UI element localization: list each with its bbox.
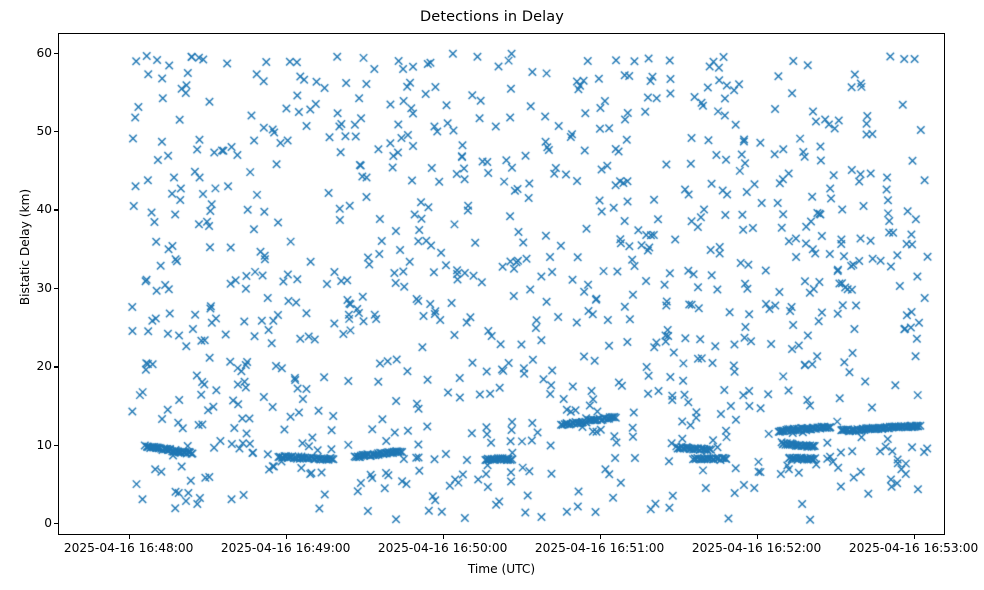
x-tick-mark [600, 535, 601, 539]
scatter-points-layer [59, 34, 945, 535]
y-axis-label: Bistatic Delay (km) [18, 137, 32, 357]
plot-area [58, 33, 945, 535]
y-tick-mark [54, 53, 58, 54]
y-tick-mark [54, 366, 58, 367]
x-tick-mark [757, 535, 758, 539]
x-tick-mark [129, 535, 130, 539]
y-tick-mark [54, 131, 58, 132]
y-tick-label: 60 [6, 46, 52, 60]
x-tick-label: 2025-04-16 16:53:00 [814, 541, 984, 555]
y-tick-label: 50 [6, 124, 52, 138]
x-tick-mark [914, 535, 915, 539]
y-tick-mark [54, 523, 58, 524]
y-tick-mark [54, 445, 58, 446]
y-tick-mark [54, 209, 58, 210]
y-tick-label: 20 [6, 359, 52, 373]
x-tick-mark [286, 535, 287, 539]
page-title: Detections in Delay [0, 9, 984, 25]
y-tick-label: 0 [6, 516, 52, 530]
y-tick-label: 10 [6, 438, 52, 452]
figure-canvas: Detections in Delay 0102030405060 Bistat… [0, 0, 984, 590]
x-tick-mark [443, 535, 444, 539]
y-tick-mark [54, 288, 58, 289]
x-axis-label: Time (UTC) [58, 562, 945, 576]
